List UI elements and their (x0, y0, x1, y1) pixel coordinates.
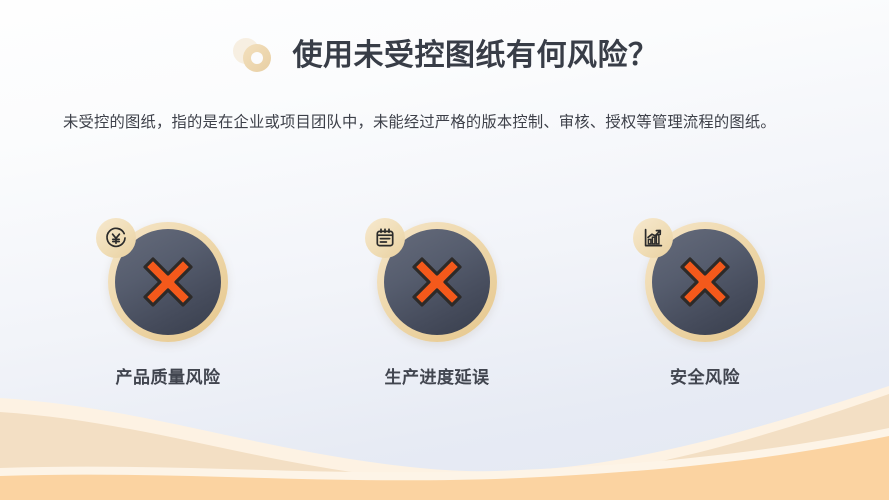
risk-icon-circle (377, 222, 497, 342)
bar-chart-arrow-icon (633, 218, 673, 258)
bottom-wave-decoration (0, 380, 889, 500)
slide-canvas: 使用未受控图纸有何风险？ 未受控的图纸，指的是在企业或项目团队中，未能经过严格的… (0, 0, 889, 500)
intro-paragraph: 未受控的图纸，指的是在企业或项目团队中，未能经过严格的版本控制、审核、授权等管理… (63, 108, 835, 138)
cross-mark-icon (673, 250, 737, 314)
risk-card-safety[interactable]: 安全风险 (605, 222, 805, 388)
risk-card-schedule-delay[interactable]: 生产进度延误 (337, 222, 537, 388)
circle-ring-decoration-icon (231, 34, 281, 78)
risk-card-list: 产品质量风险 (0, 222, 889, 402)
slide-title-row: 使用未受控图纸有何风险？ (0, 32, 889, 80)
clipboard-schedule-icon (365, 218, 405, 258)
risk-icon-circle (108, 222, 228, 342)
risk-icon-circle (645, 222, 765, 342)
yen-currency-icon (96, 218, 136, 258)
decoration-front-ring (243, 44, 271, 72)
risk-card-product-quality[interactable]: 产品质量风险 (68, 222, 268, 388)
page-title: 使用未受控图纸有何风险？ (293, 41, 659, 71)
cross-mark-icon (405, 250, 469, 314)
cross-mark-icon (136, 250, 200, 314)
